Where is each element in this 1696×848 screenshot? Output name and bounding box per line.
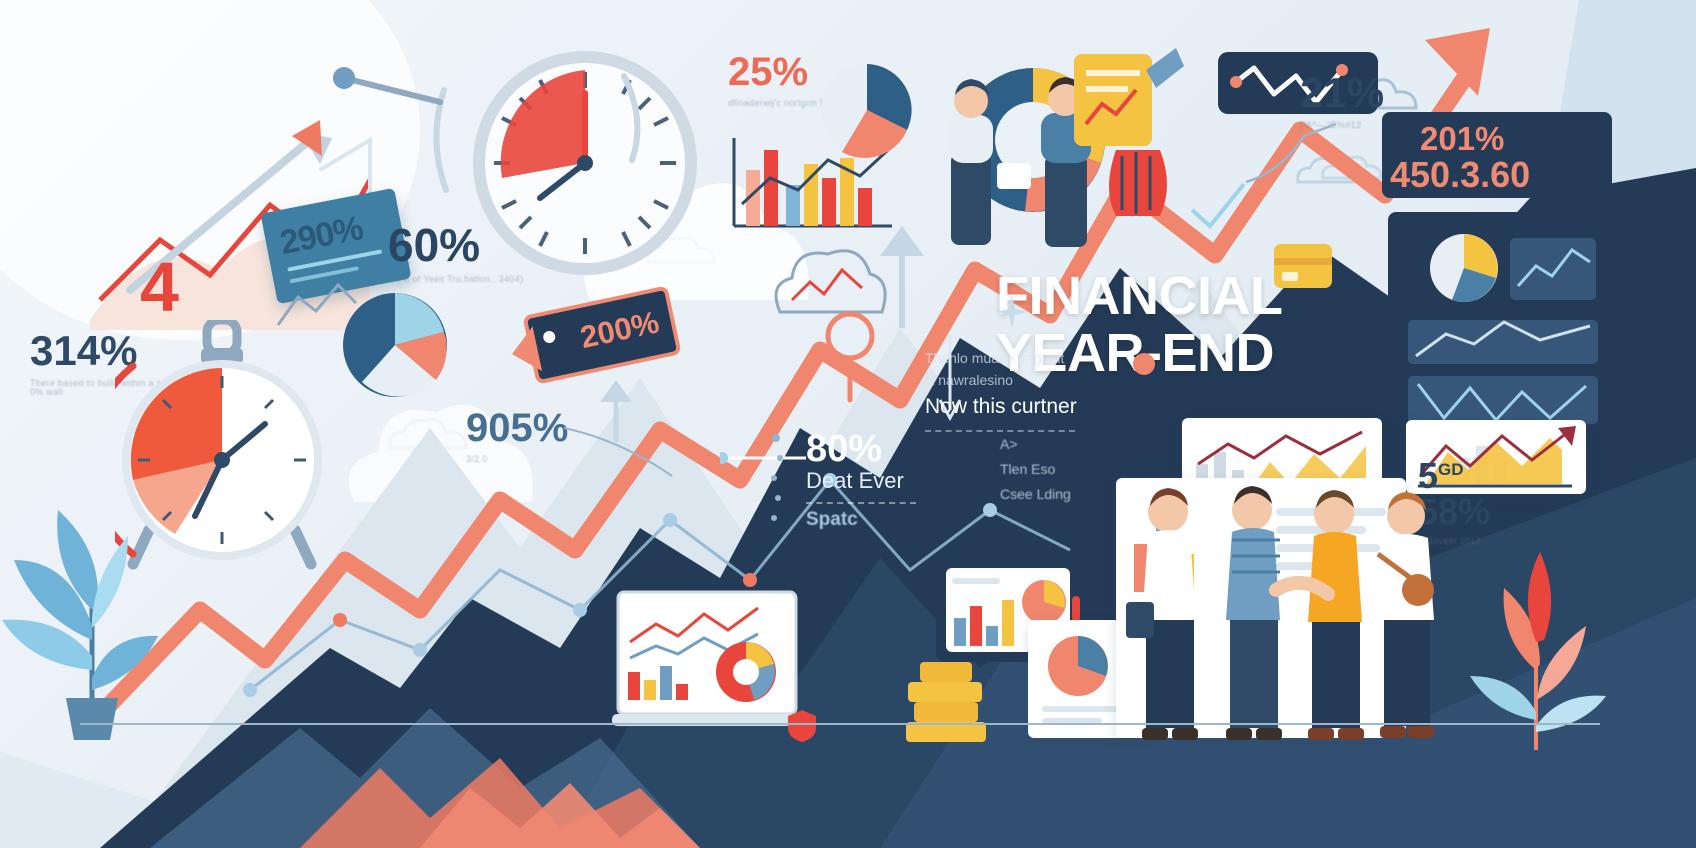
- stat-80-sub: Deat Ever: [806, 470, 916, 492]
- coins-icon: [898, 660, 1008, 750]
- stat-4: 4: [140, 252, 179, 322]
- sparkle-icon: [992, 292, 1032, 332]
- plant-icon: [1440, 500, 1630, 750]
- handwritten-bullets: A> Tlen Eso Csee Lding: [1000, 432, 1071, 508]
- card-201: 201% 450.3.60: [1382, 112, 1612, 198]
- note-line-1: Thenlo muaae iragiant: [925, 348, 1077, 370]
- note-line-3: Now this curtner: [925, 391, 1077, 424]
- page-title-line-1: FINANCIAL: [996, 268, 1516, 325]
- note-line-2: & nawralesino: [925, 370, 1077, 392]
- pointer-line: [1240, 110, 1370, 190]
- pie-chart-icon: [812, 60, 922, 160]
- note-bullet-2: Tlen Eso: [1000, 457, 1071, 482]
- stat-80-spatc: Spatc: [806, 510, 916, 529]
- stat-80-divider: [806, 502, 916, 504]
- arrow-up-icon: [586, 378, 646, 448]
- stat-25-value: 25%: [728, 50, 808, 94]
- pin-doodle: [330, 62, 460, 112]
- handwritten-notes: Thenlo muaae iragiant & nawralesino Now …: [925, 348, 1077, 432]
- stat-905-value: 905%: [466, 406, 568, 450]
- card-201-amount: 450.3.60: [1390, 154, 1530, 196]
- note-bullet-1: A>: [1000, 432, 1071, 457]
- card-201-percent: 201%: [1420, 120, 1504, 158]
- plant-icon: [0, 440, 190, 740]
- note-bullet-3: Csee Lding: [1000, 482, 1071, 507]
- baseline: [0, 716, 1696, 736]
- dot-marker: [1130, 350, 1160, 380]
- stat-58-super: GD: [1438, 460, 1464, 479]
- check-doodle-icon: [1178, 168, 1258, 248]
- decorative-dots: [760, 430, 800, 540]
- infographic-canvas: 314% There based to build within a speed…: [0, 0, 1696, 848]
- motion-lines: [424, 50, 664, 250]
- price-tag-200-value: 200%: [577, 304, 662, 356]
- stat-21-value: 21%: [1300, 69, 1384, 116]
